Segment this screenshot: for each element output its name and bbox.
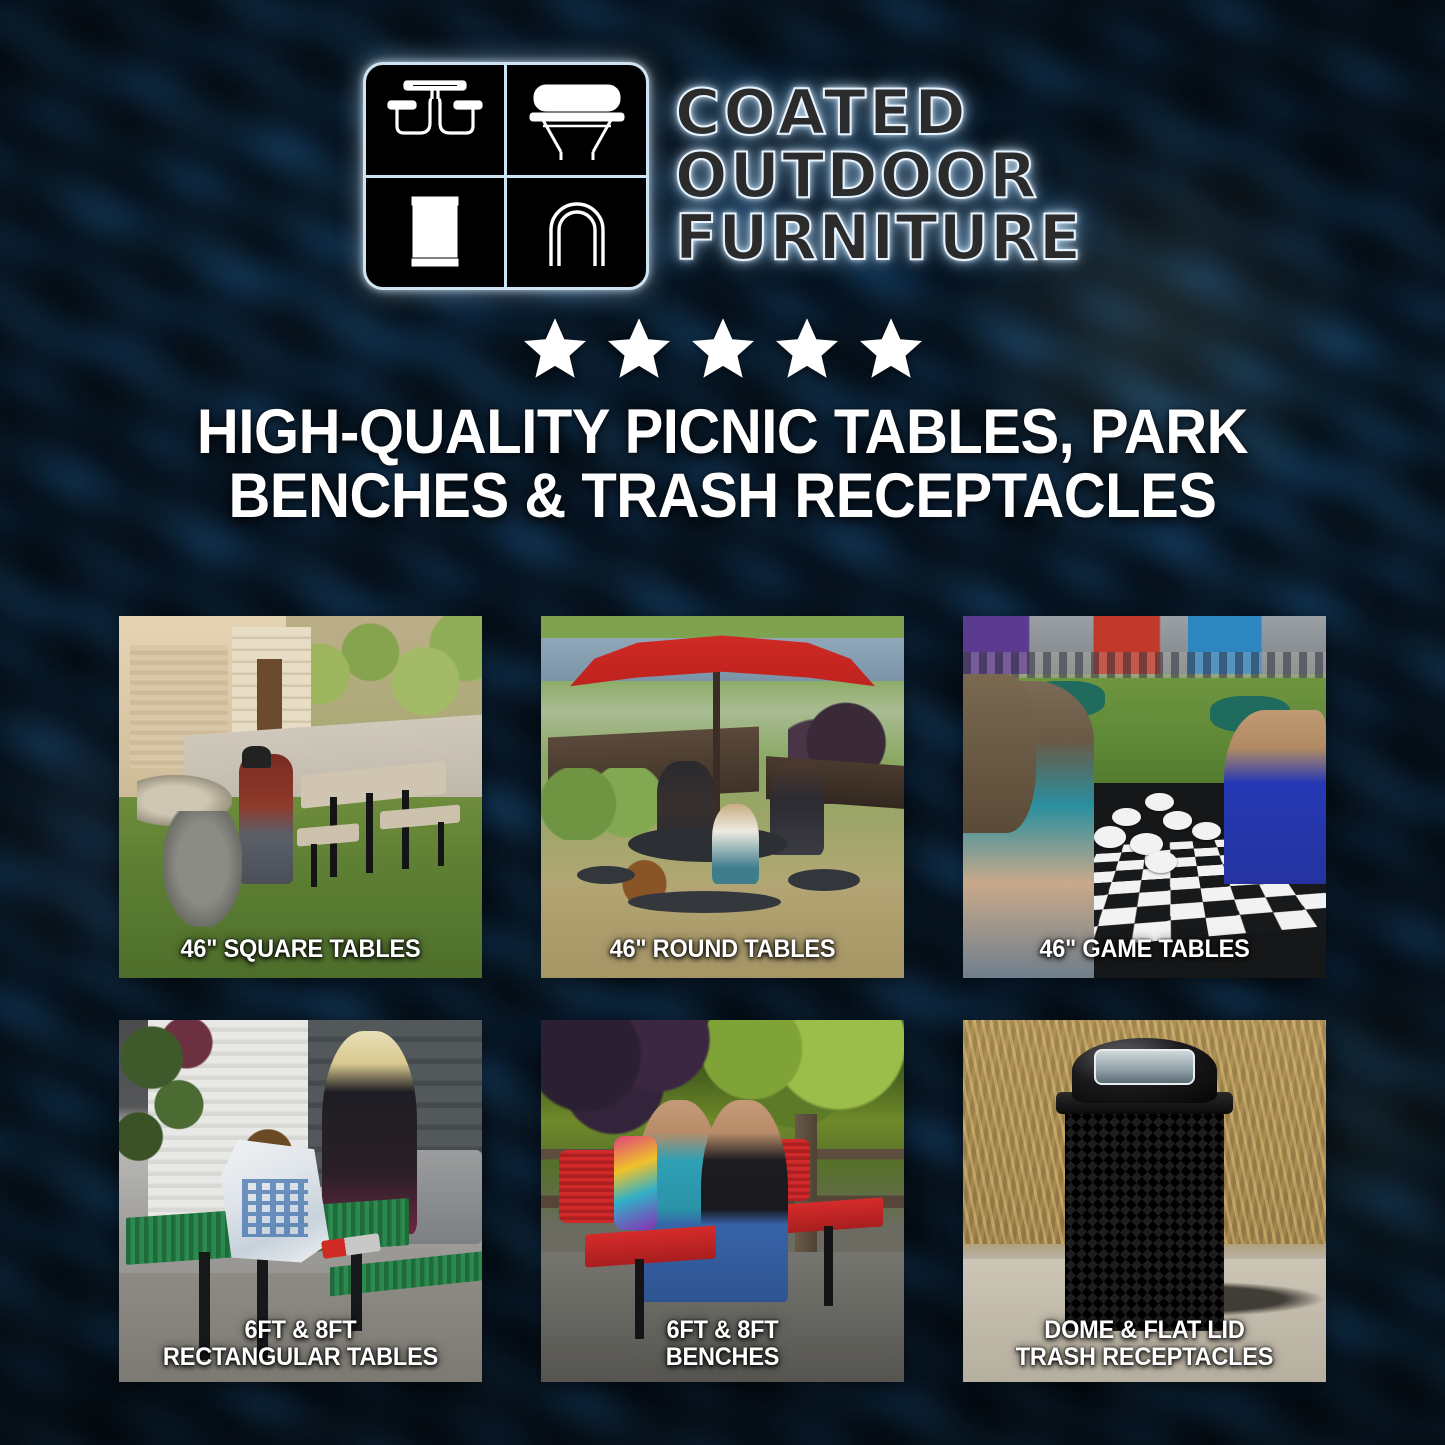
promo-banner: COATED OUTDOOR FURNITURE HIGH-QUALITY PI… xyxy=(0,0,1445,1445)
star-icon-3 xyxy=(692,318,754,378)
product-tile-game-tables[interactable]: 46" GAME TABLES xyxy=(963,616,1326,978)
product-tile-benches[interactable]: 6FT & 8FT BENCHES xyxy=(541,1020,904,1382)
product-tile-caption: 46" ROUND TABLES xyxy=(552,936,893,963)
product-tile-caption: DOME & FLAT LID TRASH RECEPTACLES xyxy=(974,1317,1315,1370)
brand-header: COATED OUTDOOR FURNITURE xyxy=(0,0,1445,290)
product-tile-caption: 6FT & 8FT BENCHES xyxy=(552,1317,893,1370)
star-icon-1 xyxy=(524,318,586,378)
headline-line-2: BENCHES & TRASH RECEPTACLES xyxy=(58,464,1387,528)
wordmark-line-outdoor: OUTDOOR xyxy=(675,146,1082,207)
product-tile-square-tables[interactable]: 46" SQUARE TABLES xyxy=(119,616,482,978)
brand-wordmark: COATED OUTDOOR FURNITURE xyxy=(675,83,1082,269)
star-icon-2 xyxy=(608,318,670,378)
product-tile-caption: 46" GAME TABLES xyxy=(974,936,1315,963)
bike-rack-icon xyxy=(507,178,646,288)
product-photo-game-tables xyxy=(963,616,1326,978)
brand-logo-mark xyxy=(363,62,649,290)
star-icon-4 xyxy=(776,318,838,378)
product-tile-caption: 46" SQUARE TABLES xyxy=(130,936,471,963)
bench-icon xyxy=(507,65,646,175)
product-tile-rectangular-tables[interactable]: 6FT & 8FT RECTANGULAR TABLES xyxy=(119,1020,482,1382)
page-title: HIGH-QUALITY PICNIC TABLES, PARK BENCHES… xyxy=(58,400,1387,529)
product-photo-square-tables xyxy=(119,616,482,978)
product-tile-caption: 6FT & 8FT RECTANGULAR TABLES xyxy=(130,1317,471,1370)
picnic-table-icon xyxy=(366,65,505,175)
trash-receptacle-icon xyxy=(366,178,505,288)
product-category-grid: 46" SQUARE TABLES xyxy=(119,616,1327,1382)
wordmark-line-furniture: FURNITURE xyxy=(675,208,1082,269)
star-icon-5 xyxy=(860,318,922,378)
wordmark-line-coated: COATED xyxy=(675,83,1082,144)
headline-line-1: HIGH-QUALITY PICNIC TABLES, PARK xyxy=(197,397,1248,467)
product-tile-trash-receptacles[interactable]: DOME & FLAT LID TRASH RECEPTACLES xyxy=(963,1020,1326,1382)
product-photo-round-tables xyxy=(541,616,904,978)
product-tile-round-tables[interactable]: 46" ROUND TABLES xyxy=(541,616,904,978)
star-rating xyxy=(0,318,1445,378)
